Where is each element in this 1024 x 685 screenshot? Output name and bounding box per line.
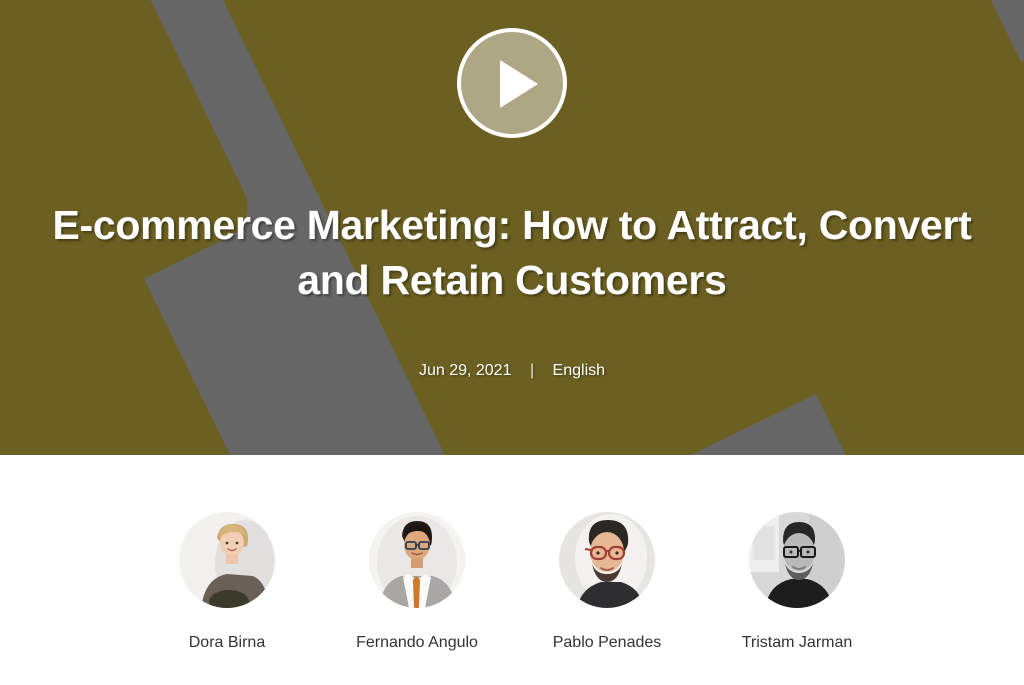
speaker-card[interactable]: Pablo Penades [559,512,655,652]
webinar-hero-page: E-commerce Marketing: How to Attract, Co… [0,0,1024,685]
speaker-name: Tristam Jarman [742,634,853,652]
avatar [749,512,845,608]
hero-meta: Jun 29, 2021 | English [0,362,1024,380]
speaker-card[interactable]: Fernando Angulo [369,512,465,652]
speakers-section: Dora Birna [0,455,1024,685]
speaker-card[interactable]: Tristam Jarman [749,512,845,652]
speaker-name: Dora Birna [189,634,265,652]
meta-separator: | [530,362,534,380]
speaker-name: Pablo Penades [553,634,662,652]
hero-section: E-commerce Marketing: How to Attract, Co… [0,0,1024,455]
webinar-date: Jun 29, 2021 [419,362,512,379]
avatar [179,512,275,608]
speaker-name: Fernando Angulo [356,634,478,652]
page-title: E-commerce Marketing: How to Attract, Co… [0,198,1024,307]
webinar-language: English [553,362,605,379]
play-icon [500,60,538,108]
avatar [559,512,655,608]
speaker-card[interactable]: Dora Birna [179,512,275,652]
play-button[interactable] [457,28,567,138]
avatar [369,512,465,608]
